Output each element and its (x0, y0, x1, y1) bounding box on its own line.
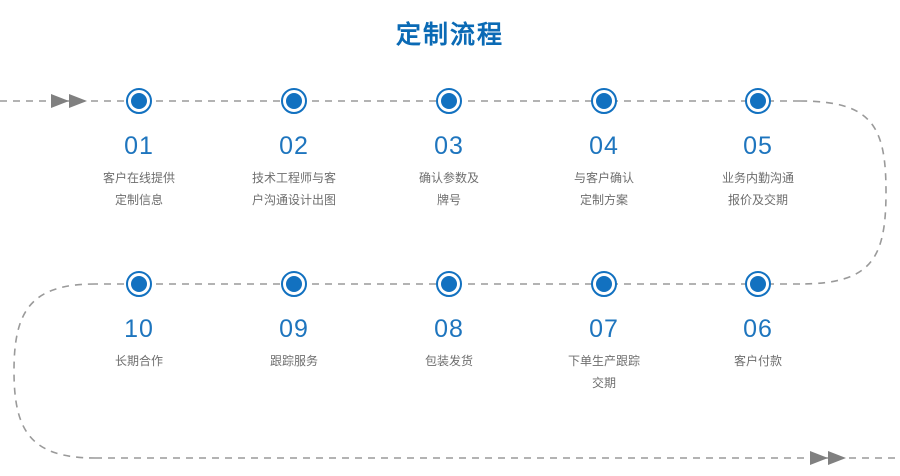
step-label-line: 下单生产跟踪 (529, 350, 679, 372)
step-node-icon[interactable] (436, 88, 462, 114)
step-label-line: 牌号 (374, 189, 524, 211)
arrow-bottom-right-1-icon (810, 451, 828, 465)
step-label: 技术工程师与客 户沟通设计出图 (219, 167, 369, 211)
arrow-top-left-2-icon (69, 94, 87, 108)
step-node-icon[interactable] (591, 271, 617, 297)
step-number: 04 (529, 132, 679, 160)
step-number: 07 (529, 315, 679, 343)
arrow-top-left-1-icon (51, 94, 69, 108)
step-node-icon[interactable] (126, 271, 152, 297)
step-node-icon[interactable] (436, 271, 462, 297)
step-node-icon[interactable] (745, 88, 771, 114)
step-label-line: 跟踪服务 (219, 350, 369, 372)
step-label-line: 客户付款 (683, 350, 833, 372)
step-label-line: 定制方案 (529, 189, 679, 211)
step-label-line: 包装发货 (374, 350, 524, 372)
flow-path-svg (0, 0, 900, 476)
step-label: 与客户确认 定制方案 (529, 167, 679, 211)
step-number: 03 (374, 132, 524, 160)
step-label-line: 确认参数及 (374, 167, 524, 189)
step-number: 06 (683, 315, 833, 343)
step-label-line: 户沟通设计出图 (219, 189, 369, 211)
step-node-icon[interactable] (745, 271, 771, 297)
step-label: 包装发货 (374, 350, 524, 372)
step-label-line: 业务内勤沟通 (683, 167, 833, 189)
step-label-line: 客户在线提供 (64, 167, 214, 189)
step-label-line: 定制信息 (64, 189, 214, 211)
step-label-line: 长期合作 (64, 350, 214, 372)
step-label: 客户在线提供 定制信息 (64, 167, 214, 211)
step-label: 下单生产跟踪 交期 (529, 350, 679, 394)
flow-diagram: 定制流程 01 客户在线提供 定制信息 02 技术工程师与客 户沟通设计出图 (0, 0, 900, 476)
step-node-icon[interactable] (126, 88, 152, 114)
step-label-line: 与客户确认 (529, 167, 679, 189)
step-label: 客户付款 (683, 350, 833, 372)
step-node-icon[interactable] (281, 88, 307, 114)
step-number: 09 (219, 315, 369, 343)
step-label: 业务内勤沟通 报价及交期 (683, 167, 833, 211)
step-label: 长期合作 (64, 350, 214, 372)
step-label: 跟踪服务 (219, 350, 369, 372)
step-label: 确认参数及 牌号 (374, 167, 524, 211)
arrow-bottom-right-2-icon (828, 451, 846, 465)
step-number: 02 (219, 132, 369, 160)
step-number: 01 (64, 132, 214, 160)
step-number: 10 (64, 315, 214, 343)
step-label-line: 报价及交期 (683, 189, 833, 211)
step-number: 08 (374, 315, 524, 343)
step-label-line: 技术工程师与客 (219, 167, 369, 189)
step-number: 05 (683, 132, 833, 160)
step-node-icon[interactable] (591, 88, 617, 114)
step-node-icon[interactable] (281, 271, 307, 297)
step-label-line: 交期 (529, 372, 679, 394)
